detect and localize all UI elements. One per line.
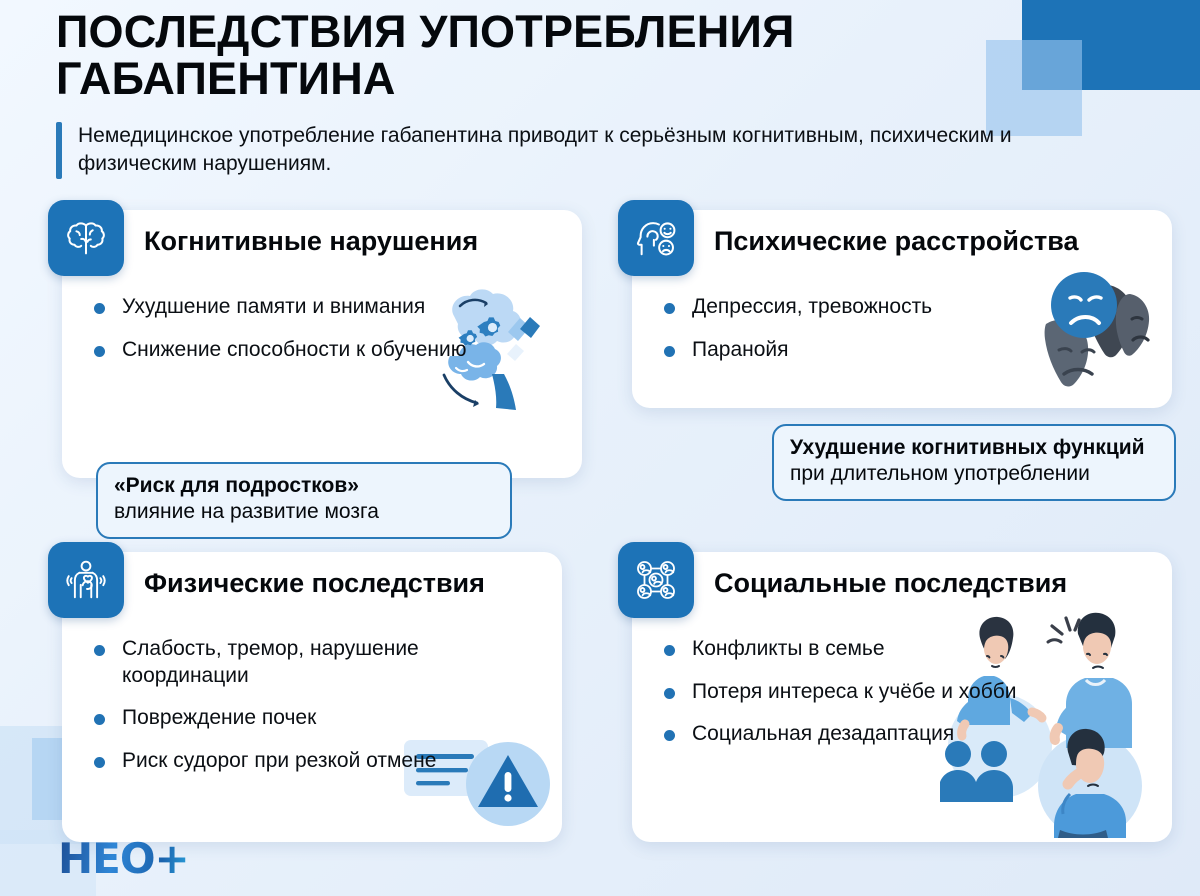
card-social[interactable]: Социальные последствия xyxy=(632,552,1172,842)
list-item: Снижение способности к обучению xyxy=(92,337,570,364)
body-organs-icon xyxy=(48,542,124,618)
title-line-1: ПОСЛЕДСТВИЯ УПОТРЕБЛЕНИЯ xyxy=(56,6,795,57)
callout-teen-bold: «Риск для подростков» xyxy=(114,474,359,497)
card-title-mental: Психические расстройства xyxy=(714,226,1160,257)
callout-long-term-use: Ухудшение когнитивных функций при длител… xyxy=(772,424,1176,501)
card-title-physical: Физические последствия xyxy=(144,568,550,599)
list-item: Повреждение почек xyxy=(92,705,550,732)
list-item: Ухудшение памяти и внимания xyxy=(92,294,570,321)
brain-icon xyxy=(48,200,124,276)
card-title-social: Социальные последствия xyxy=(714,568,1160,599)
card-physical[interactable]: Физические последствия Слабость, тремор,… xyxy=(62,552,562,842)
card-mental[interactable]: Психические расстройства Депрессия, трев… xyxy=(632,210,1172,408)
callout-teen-rest: влияние на развитие мозга xyxy=(114,500,379,523)
list-item: Социальная дезадаптация xyxy=(662,721,1160,748)
card-title-cognitive: Когнитивные нарушения xyxy=(144,226,570,257)
list-item: Паранойя xyxy=(662,337,1160,364)
infographic-canvas: ПОСЛЕДСТВИЯ УПОТРЕБЛЕНИЯ ГАБАПЕНТИНА Нем… xyxy=(0,0,1200,896)
page-title: ПОСЛЕДСТВИЯ УПОТРЕБЛЕНИЯ ГАБАПЕНТИНА xyxy=(56,8,1056,103)
bullet-list-physical: Слабость, тремор, нарушение координации … xyxy=(92,636,550,775)
list-item: Риск судорог при резкой отмене xyxy=(92,748,550,775)
list-item: Депрессия, тревожность xyxy=(662,294,1160,321)
head-emotions-icon xyxy=(618,200,694,276)
people-network-icon xyxy=(618,542,694,618)
bullet-list-mental: Депрессия, тревожность Паранойя xyxy=(662,294,1160,363)
list-item: Слабость, тремор, нарушение координации xyxy=(92,636,550,689)
list-item: Конфликты в семье xyxy=(662,636,1160,663)
bullet-list-cognitive: Ухудшение памяти и внимания Снижение спо… xyxy=(92,294,570,363)
card-cognitive[interactable]: Когнитивные нарушения xyxy=(62,210,582,478)
callout-teen-risk: «Риск для подростков» влияние на развити… xyxy=(96,462,512,539)
list-item: Потеря интереса к учёбе и хобби xyxy=(662,679,1160,706)
subtitle-text: Немедицинское употребление габапентина п… xyxy=(62,122,1018,180)
callout-long-rest: при длительном употреблении xyxy=(790,462,1090,485)
title-line-2: ГАБАПЕНТИНА xyxy=(56,55,1056,102)
subtitle-block: Немедицинское употребление габапентина п… xyxy=(56,122,1056,180)
brand-logo: НЕО+ xyxy=(58,838,189,880)
callout-long-bold: Ухудшение когнитивных функций xyxy=(790,436,1145,459)
header: ПОСЛЕДСТВИЯ УПОТРЕБЛЕНИЯ ГАБАПЕНТИНА Нем… xyxy=(56,8,1056,179)
bullet-list-social: Конфликты в семье Потеря интереса к учёб… xyxy=(662,636,1160,748)
